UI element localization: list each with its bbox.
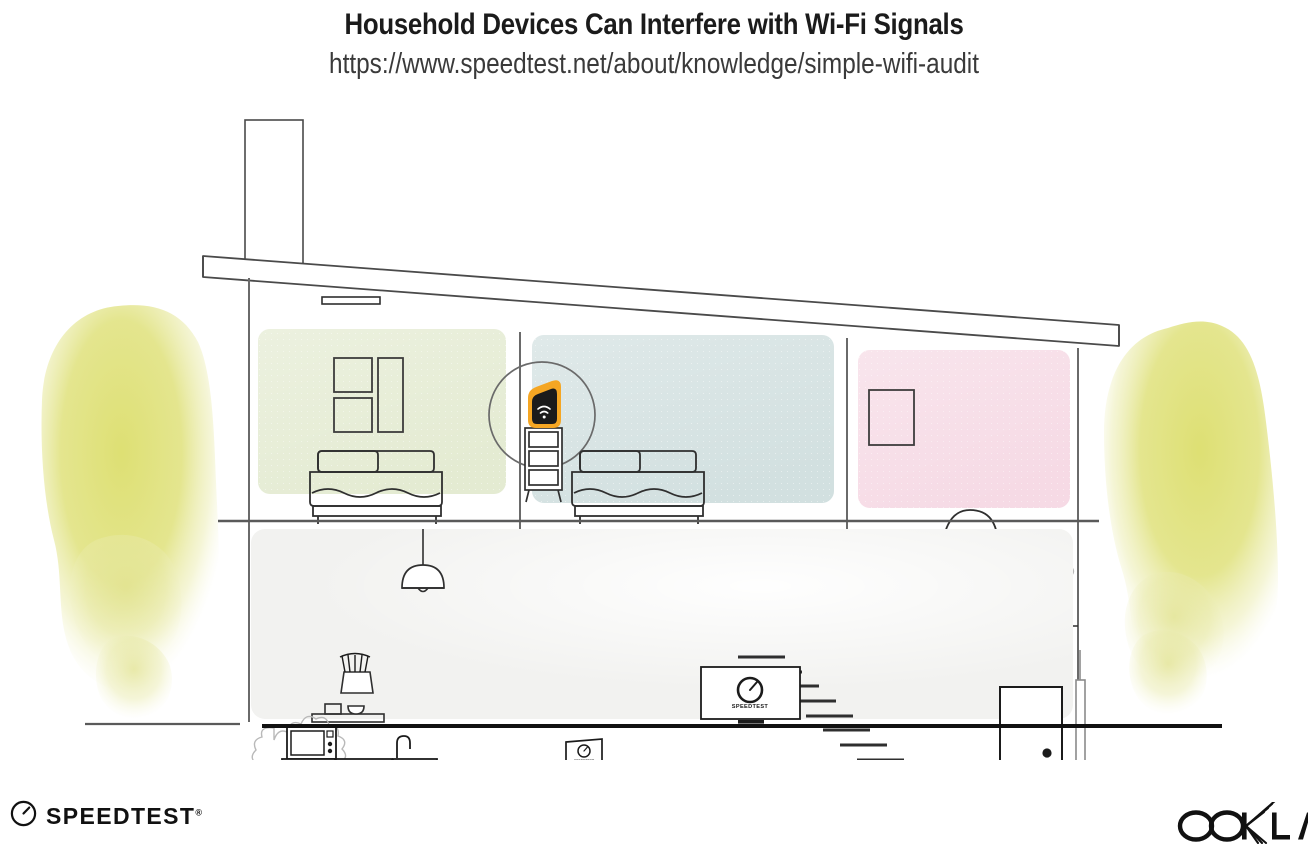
speedtest-trademark: ® <box>195 807 202 817</box>
speedtest-gauge-icon <box>10 800 37 832</box>
house-illustration: SPEEDTEST <box>0 110 1308 760</box>
laptop-screen-label: SPEEDTEST <box>574 759 595 760</box>
footer: SPEEDTEST® <box>0 780 1308 861</box>
tv2-screen-label: SPEEDTEST <box>732 704 769 710</box>
ground-line <box>85 724 1222 726</box>
kitchen-sink-faucet <box>397 736 410 758</box>
speedtest-wordmark: SPEEDTEST® <box>46 803 202 830</box>
room-bedroom-blue <box>532 335 834 503</box>
laptop-speedtest: SPEEDTEST <box>557 739 612 760</box>
room-lower-floor <box>251 529 1073 719</box>
front-door <box>1000 687 1062 760</box>
room-nursery-pink <box>858 350 1070 508</box>
foliage-right <box>1104 322 1278 715</box>
ookla-logo <box>1174 802 1308 849</box>
speedtest-logo: SPEEDTEST® <box>10 800 202 832</box>
microwave <box>287 727 336 759</box>
house-cross-section-svg: SPEEDTEST <box>0 110 1308 760</box>
chimney <box>245 120 303 268</box>
infographic-page: Household Devices Can Interfere with Wi-… <box>0 0 1308 861</box>
header: Household Devices Can Interfere with Wi-… <box>0 0 1308 81</box>
page-title: Household Devices Can Interfere with Wi-… <box>92 0 1217 42</box>
kitchen-counter <box>282 759 437 760</box>
room-bedroom-green <box>258 329 506 494</box>
tv-living-room: SPEEDTEST <box>701 667 800 724</box>
speedtest-wordmark-text: SPEEDTEST <box>46 803 195 829</box>
source-url: https://www.speedtest.net/about/knowledg… <box>105 42 1204 81</box>
foliage-left <box>42 305 219 719</box>
